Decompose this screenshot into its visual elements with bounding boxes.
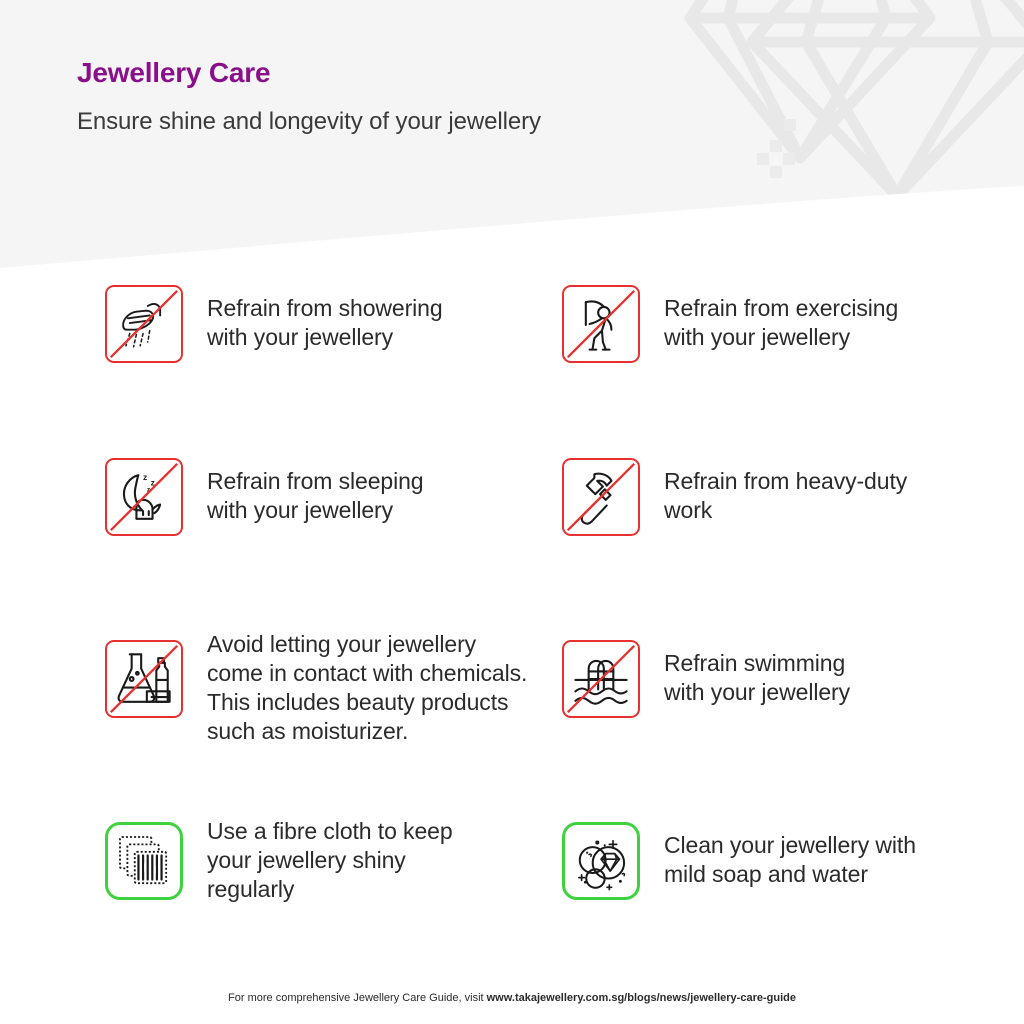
care-item-text: Refrain from exercising with your jewell… [664,294,898,352]
care-item-text: Use a fibre cloth to keep your jewellery… [207,817,453,904]
care-items-list: Refrain from showering with your jewelle… [0,0,1024,1024]
care-item-chemicals: Avoid letting your jewellery come in con… [105,640,527,746]
care-item-fibre-cloth: Use a fibre cloth to keep your jewellery… [105,822,453,904]
care-item-showering: Refrain from showering with your jewelle… [105,285,443,363]
fibre-cloth-icon [105,822,183,900]
care-item-text: Refrain from heavy-duty work [664,467,907,525]
chemicals-flask-icon [105,640,183,718]
svg-text:z: z [143,472,147,482]
sleeping-moon-cat-icon: z z z [105,458,183,536]
footer-prefix-text: For more comprehensive Jewellery Care Gu… [228,992,487,1004]
footer: For more comprehensive Jewellery Care Gu… [0,992,1024,1004]
shower-head-icon [105,285,183,363]
care-item-text: Avoid letting your jewellery come in con… [207,630,527,746]
hammer-icon [562,458,640,536]
soap-bubbles-diamond-icon [562,822,640,900]
swimming-pool-icon [562,640,640,718]
care-item-heavy-duty-work: Refrain from heavy-duty work [562,458,907,536]
footer-url-link[interactable]: www.takajewellery.com.sg/blogs/news/jewe… [487,992,796,1004]
care-item-swimming: Refrain swimming with your jewellery [562,640,850,718]
care-item-text: Clean your jewellery with mild soap and … [664,831,916,889]
care-item-exercising: Refrain from exercising with your jewell… [562,285,898,363]
care-item-clean-with-soap: Clean your jewellery with mild soap and … [562,822,916,900]
care-item-text: Refrain swimming with your jewellery [664,649,850,707]
care-item-text: Refrain from showering with your jewelle… [207,294,443,352]
care-item-text: Refrain from sleeping with your jeweller… [207,467,424,525]
care-item-sleeping: z z z Refrain from sleeping with your je… [105,458,424,536]
exercising-person-icon [562,285,640,363]
